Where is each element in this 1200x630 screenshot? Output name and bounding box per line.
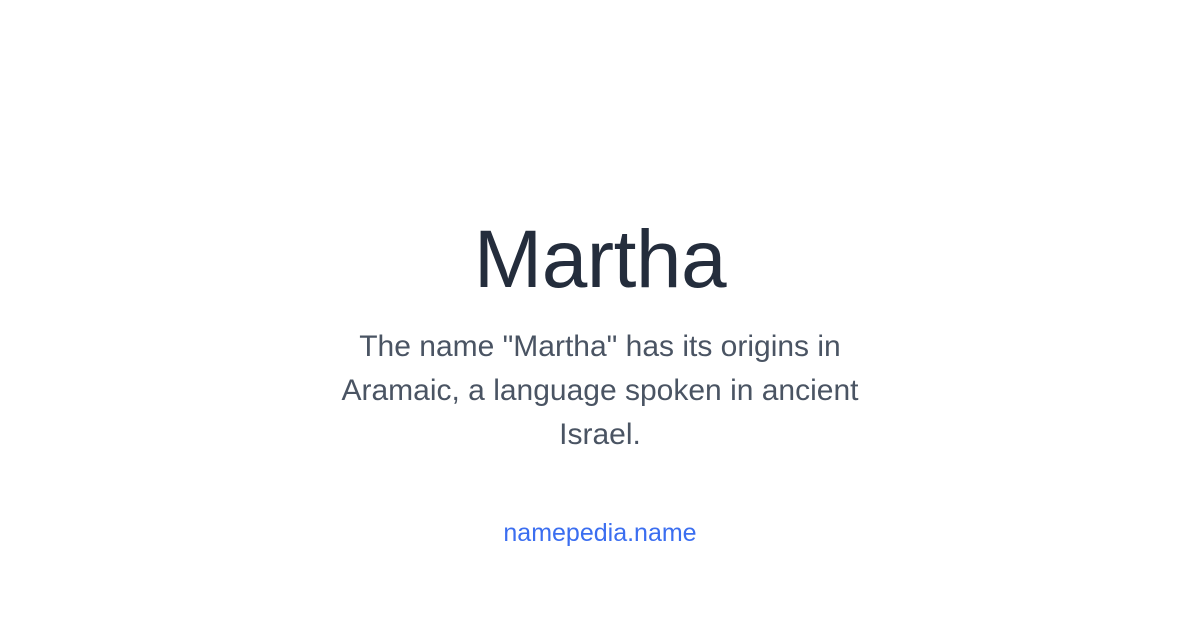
card-content: Martha The name "Martha" has its origins… [0, 212, 1200, 457]
page-title: Martha [474, 212, 726, 308]
site-link[interactable]: namepedia.name [503, 519, 696, 547]
name-description: The name "Martha" has its origins in Ara… [150, 325, 1050, 457]
name-preview-card: Martha The name "Martha" has its origins… [0, 0, 1200, 630]
footer: namepedia.name [0, 518, 1200, 548]
